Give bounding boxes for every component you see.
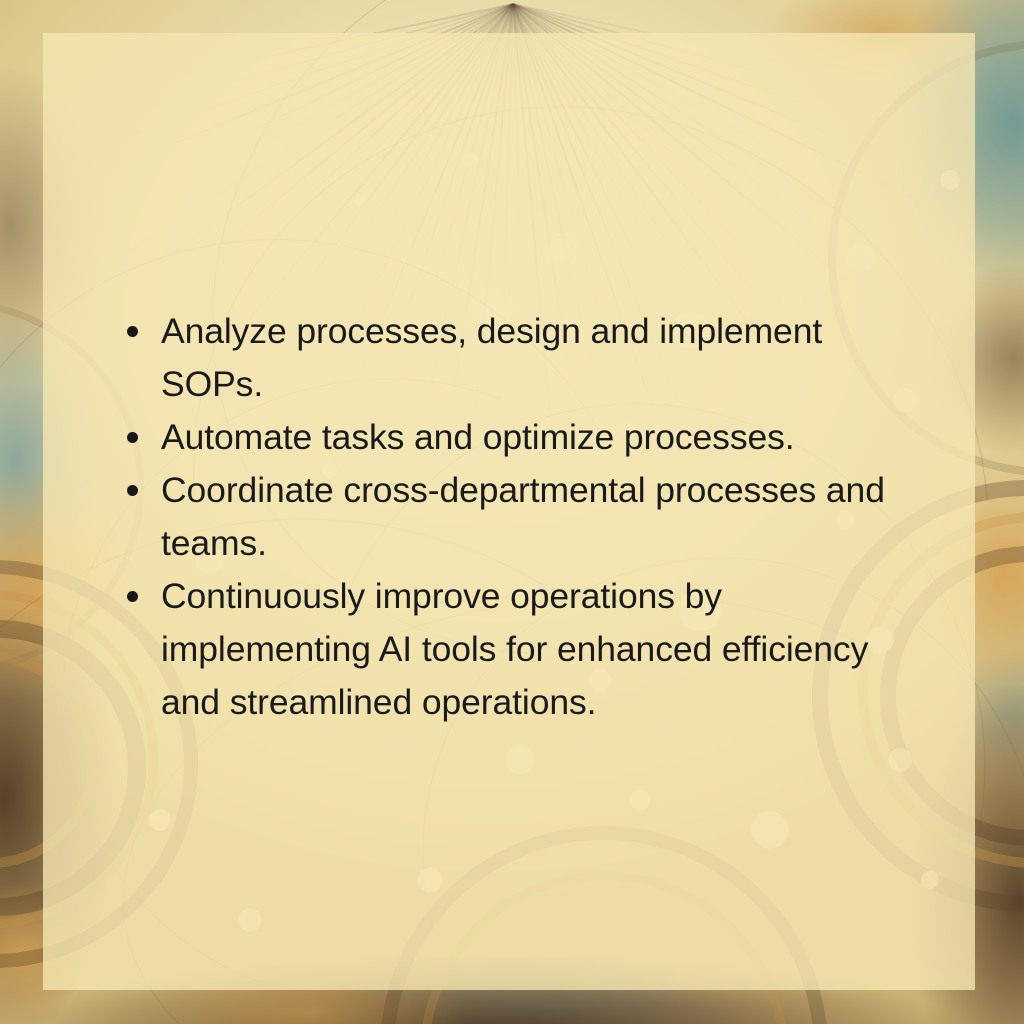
list-item: Coordinate cross-departmental processes … bbox=[118, 464, 908, 570]
bullet-point-icon bbox=[127, 485, 138, 496]
list-item: Continuously improve operations by imple… bbox=[118, 570, 908, 729]
list-item-text: Analyze processes, design and implement … bbox=[161, 305, 908, 411]
list-item-text: Continuously improve operations by imple… bbox=[161, 570, 908, 729]
list-item: Automate tasks and optimize processes. bbox=[118, 411, 908, 464]
slide-canvas: Analyze processes, design and implement … bbox=[0, 0, 1024, 1024]
list-item-text: Automate tasks and optimize processes. bbox=[161, 411, 908, 464]
bullet-point-icon bbox=[127, 326, 138, 337]
bullet-list: Analyze processes, design and implement … bbox=[118, 305, 908, 729]
bullet-point-icon bbox=[127, 591, 138, 602]
list-item-text: Coordinate cross-departmental processes … bbox=[161, 464, 908, 570]
list-item: Analyze processes, design and implement … bbox=[118, 305, 908, 411]
bullet-point-icon bbox=[127, 432, 138, 443]
